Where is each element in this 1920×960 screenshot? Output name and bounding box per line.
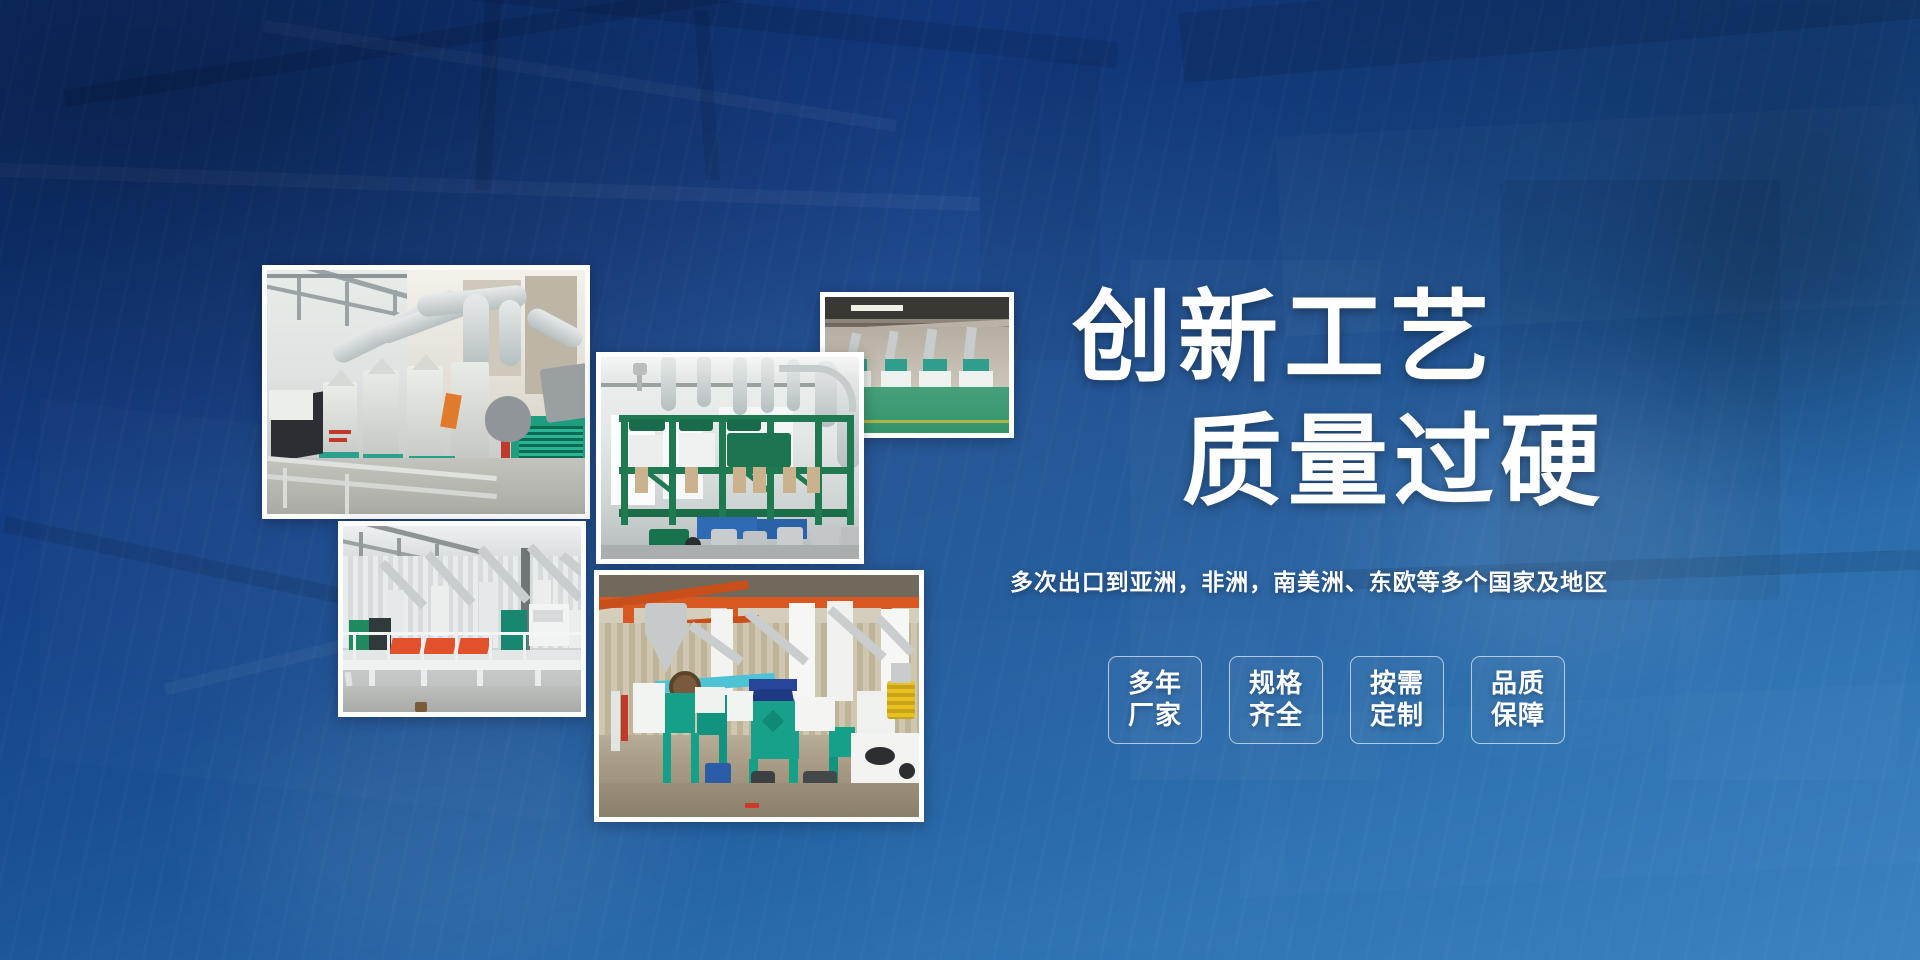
feature-badge-2[interactable]: 规格 齐全 xyxy=(1229,656,1323,744)
collage-photo-2[interactable] xyxy=(596,352,864,564)
collage-photo-1[interactable] xyxy=(262,265,590,519)
headline-line-2: 质量过硬 xyxy=(1182,412,1606,512)
feature-badge-4-line-2: 保障 xyxy=(1491,700,1545,732)
feature-badge-4[interactable]: 品质 保障 xyxy=(1471,656,1565,744)
feature-badge-1[interactable]: 多年 厂家 xyxy=(1108,656,1202,744)
feature-badge-1-line-1: 多年 xyxy=(1128,668,1182,700)
feature-badge-list: 多年 厂家 规格 齐全 按需 定制 品质 保障 xyxy=(1108,656,1565,744)
collage-photo-4[interactable] xyxy=(338,521,586,717)
feature-badge-4-line-1: 品质 xyxy=(1491,668,1545,700)
collage-photo-5[interactable] xyxy=(594,570,924,822)
feature-badge-1-line-2: 厂家 xyxy=(1128,700,1182,732)
promo-banner: 创新工艺 质量过硬 多次出口到亚洲，非洲，南美洲、东欧等多个国家及地区 多年 厂… xyxy=(0,0,1920,960)
headline-line-1: 创新工艺 xyxy=(1072,288,1496,388)
feature-badge-2-line-1: 规格 xyxy=(1249,668,1303,700)
banner-subtitle: 多次出口到亚洲，非洲，南美洲、东欧等多个国家及地区 xyxy=(1010,563,1608,597)
feature-badge-2-line-2: 齐全 xyxy=(1249,700,1303,732)
feature-badge-3-line-2: 定制 xyxy=(1370,700,1424,732)
feature-badge-3-line-1: 按需 xyxy=(1370,668,1424,700)
feature-badge-3[interactable]: 按需 定制 xyxy=(1350,656,1444,744)
